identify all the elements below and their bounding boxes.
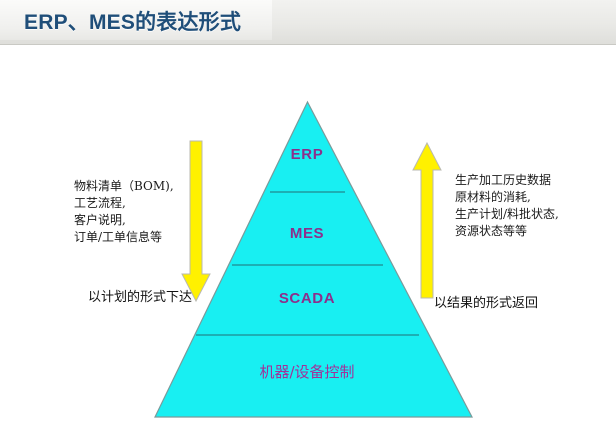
left-desc-line-4: 订单/工单信息等	[74, 229, 174, 246]
page-title: ERP、MES的表达形式	[24, 6, 241, 36]
right-output-description: 生产加工历史数据 原材料的消耗, 生产计划/料批状态, 资源状态等等	[455, 172, 559, 240]
left-desc-line-2: 工艺流程,	[74, 195, 174, 212]
left-desc-line-1: 物料清单（BOM),	[74, 178, 174, 195]
right-desc-line-1: 生产加工历史数据	[455, 172, 559, 189]
pyramid-diagram: ERP MES SCADA 机器/设备控制 物料清单（BOM), 工艺流程, 客…	[0, 45, 616, 432]
right-desc-line-2: 原材料的消耗,	[455, 189, 559, 206]
left-down-arrow-icon	[182, 141, 210, 301]
slide-header: ERP、MES的表达形式	[0, 0, 616, 45]
left-input-description: 物料清单（BOM), 工艺流程, 客户说明, 订单/工单信息等	[74, 178, 174, 246]
right-desc-line-4: 资源状态等等	[455, 223, 559, 240]
right-up-arrow-icon	[413, 143, 441, 298]
right-flow-caption: 以结果的形式返回	[434, 292, 538, 311]
right-desc-line-3: 生产计划/料批状态,	[455, 206, 559, 223]
left-desc-line-3: 客户说明,	[74, 212, 174, 229]
left-flow-caption: 以计划的形式下达	[88, 286, 192, 305]
